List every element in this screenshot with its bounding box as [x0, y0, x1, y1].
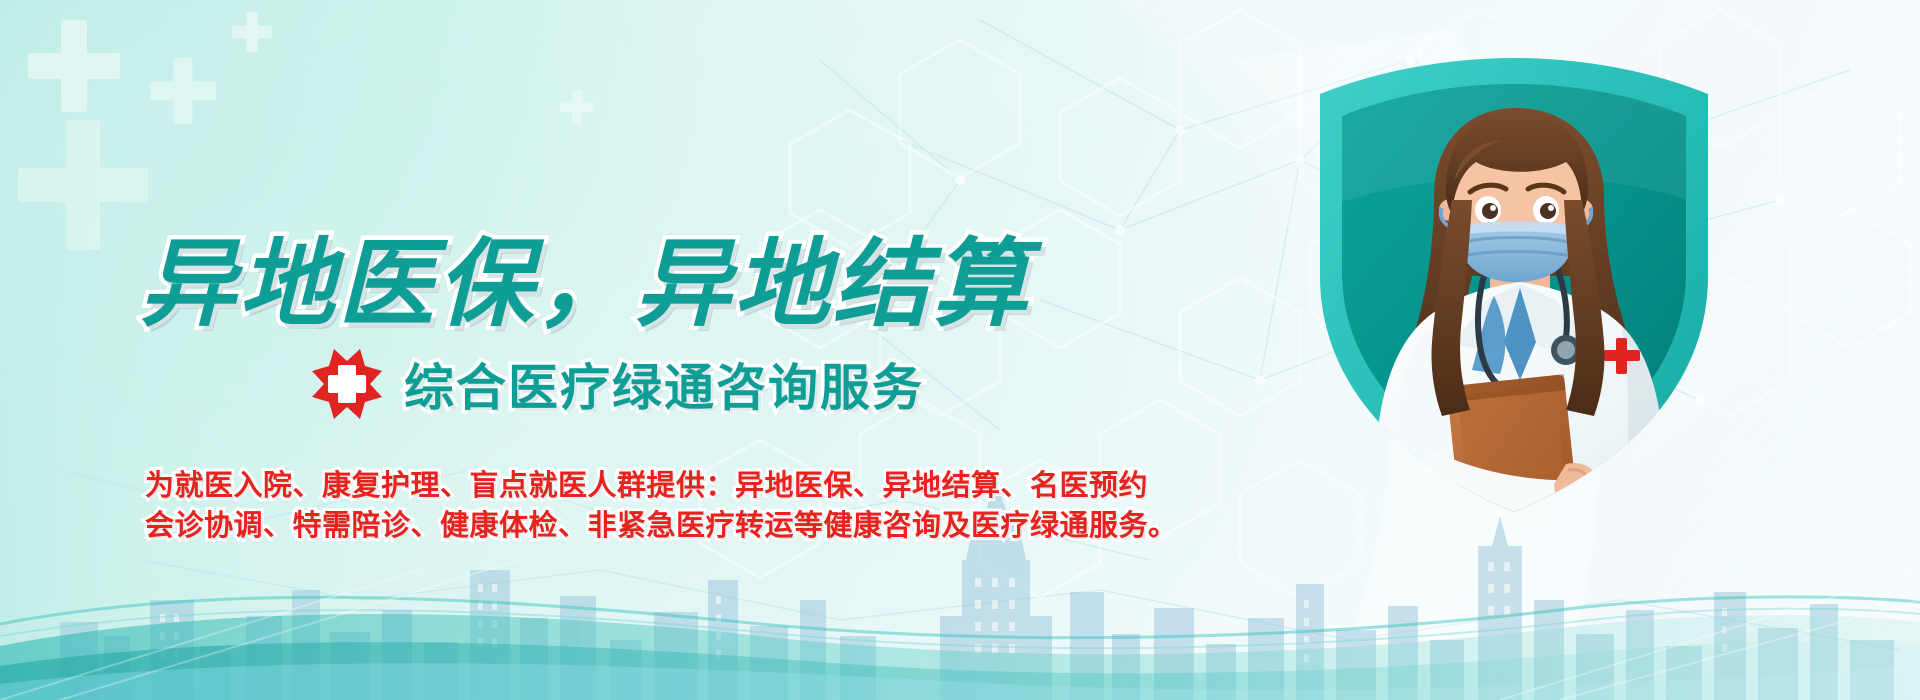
- page-title: 异地医保，异地结算: [140, 236, 1031, 334]
- description-line-2: 会诊协调、特需陪诊、健康体检、非紧急医疗转运等健康咨询及医疗绿通服务。: [145, 506, 1075, 546]
- white-medical-cross-decor: [18, 120, 148, 250]
- description-line-1: 为就医入院、康复护理、盲点就医人群提供：异地医保、异地结算、名医预约: [145, 466, 1075, 506]
- white-medical-cross-decor: [232, 12, 272, 52]
- subtitle-row: 综合医疗绿通咨询服务: [308, 345, 924, 423]
- subtitle-text: 综合医疗绿通咨询服务: [404, 348, 924, 420]
- white-medical-cross-decor: [150, 58, 216, 124]
- description-block: 为就医入院、康复护理、盲点就医人群提供：异地医保、异地结算、名医预约 会诊协调、…: [145, 466, 1075, 546]
- main-title-text: 异地医保，异地结算: [140, 231, 1031, 338]
- red-cross-badge-icon: [308, 345, 386, 423]
- shield-doctor-illustration: [1304, 50, 1724, 520]
- white-medical-cross-decor: [560, 90, 594, 124]
- white-medical-cross-decor: [28, 20, 120, 112]
- medical-service-banner: 异地医保，异地结算 综合医疗绿通咨询服务 为就医入院、康复护理、盲点就医人群提供…: [0, 0, 1920, 700]
